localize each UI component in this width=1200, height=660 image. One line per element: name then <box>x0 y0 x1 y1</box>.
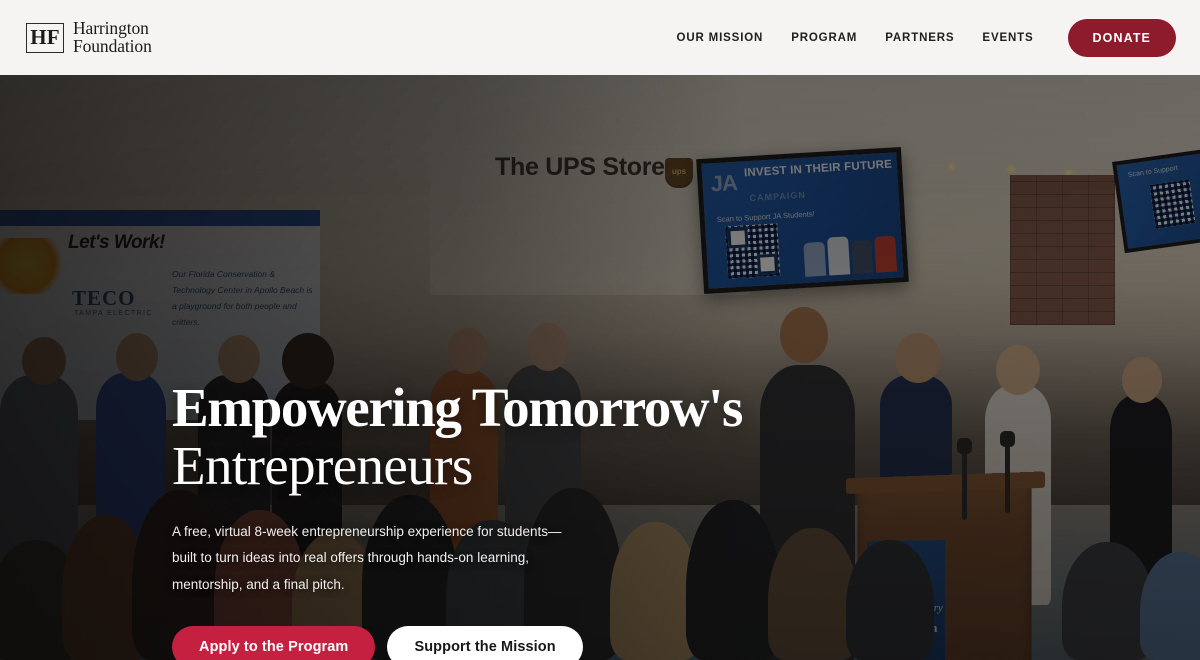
hero-title: Empowering Tomorrow's Entrepreneurs <box>172 380 812 493</box>
hero-cta-group: Apply to the Program Support the Mission <box>172 626 812 660</box>
nav-item-events[interactable]: EVENTS <box>982 32 1033 44</box>
brand-logo-link[interactable]: HF Harrington Foundation <box>26 20 152 56</box>
nav-item-program[interactable]: PROGRAM <box>791 32 857 44</box>
hero-title-bold: Empowering Tomorrow's <box>172 380 812 435</box>
hf-monogram-icon: HF <box>26 23 64 53</box>
hero-section: The UPS Store Let's Work! TECO TAMPA ELE… <box>0 75 1200 660</box>
hero-content: Empowering Tomorrow's Entrepreneurs A fr… <box>172 380 812 660</box>
page-root: HF Harrington Foundation OUR MISSION PRO… <box>0 0 1200 660</box>
nav-item-our-mission[interactable]: OUR MISSION <box>677 32 764 44</box>
hero-subtitle: A free, virtual 8-week entrepreneurship … <box>172 519 582 598</box>
brand-name-line1: Harrington <box>73 18 149 38</box>
site-header: HF Harrington Foundation OUR MISSION PRO… <box>0 0 1200 75</box>
brand-name-line2: Foundation <box>73 38 152 56</box>
main-navigation: OUR MISSION PROGRAM PARTNERS EVENTS <box>677 32 1034 44</box>
brand-name: Harrington Foundation <box>73 20 152 56</box>
nav-item-partners[interactable]: PARTNERS <box>885 32 954 44</box>
apply-to-program-button[interactable]: Apply to the Program <box>172 626 375 660</box>
donate-button[interactable]: DONATE <box>1068 19 1176 57</box>
support-the-mission-button[interactable]: Support the Mission <box>387 626 582 660</box>
hero-title-light: Entrepreneurs <box>172 438 812 493</box>
